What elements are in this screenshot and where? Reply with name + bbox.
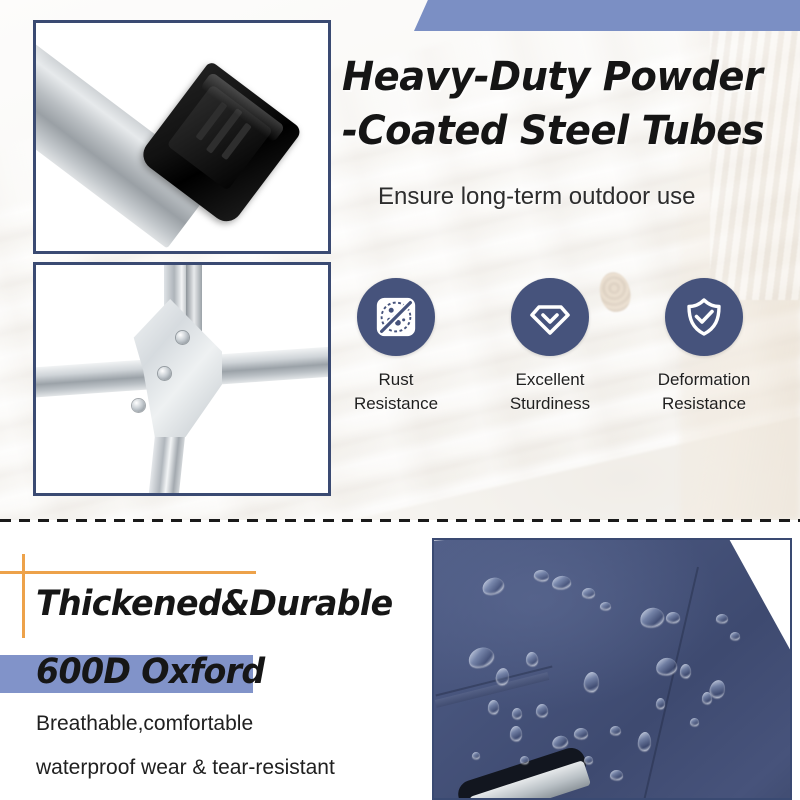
bottom-title-line-1: Thickened&Durable [36, 584, 393, 624]
feature-label: Deformation Resistance [658, 368, 751, 416]
subheadline: Ensure long-term outdoor use [378, 183, 696, 211]
diamond-check-icon [526, 293, 574, 341]
product-feature-graphic: Heavy-Duty Powder -Coated Steel Tubes En… [0, 0, 800, 800]
feature-deformation-resistance: Deformation Resistance [654, 278, 754, 416]
orange-bracket-horizontal [0, 571, 256, 574]
navy-oxford-fabric [432, 538, 792, 800]
shield-check-icon [680, 293, 728, 341]
photo-panel-bracket-joint [33, 262, 331, 496]
bottom-body-line-2: waterproof wear & tear-resistant [36, 756, 335, 780]
feature-label-line-1: Rust [379, 370, 414, 389]
feature-rust-resistance: Rust Resistance [346, 278, 446, 416]
rust-resistance-icon [373, 294, 419, 340]
orange-bracket-vertical [22, 554, 25, 638]
rivet [132, 399, 145, 412]
feature-label-line-1: Excellent [516, 370, 585, 389]
accent-band-top-right [414, 0, 800, 31]
feature-label-line-2: Resistance [662, 394, 746, 413]
photo-panel-waterproof-fabric [432, 538, 792, 800]
headline-line-1: Heavy-Duty Powder [342, 50, 774, 104]
rivet [176, 331, 189, 344]
top-section: Heavy-Duty Powder -Coated Steel Tubes En… [0, 0, 800, 520]
sturdiness-badge [511, 278, 589, 356]
headline-line-2: -Coated Steel Tubes [342, 104, 774, 158]
bottom-section: Thickened&Durable 600D Oxford Breathable… [0, 522, 800, 800]
photo-panel-tube-foot-cap [33, 20, 331, 254]
bottom-body-line-1: Breathable,comfortable [36, 712, 253, 736]
feature-excellent-sturdiness: Excellent Sturdiness [500, 278, 600, 416]
feature-label-line-1: Deformation [658, 370, 751, 389]
bottom-title-line-2: 600D Oxford [36, 652, 264, 692]
headline: Heavy-Duty Powder -Coated Steel Tubes [342, 50, 792, 158]
feature-label: Excellent Sturdiness [510, 368, 590, 416]
feature-label-line-2: Sturdiness [510, 394, 590, 413]
rivet [158, 367, 171, 380]
deformation-badge [665, 278, 743, 356]
feature-badge-row: Rust Resistance Excellent Sturdiness [340, 278, 800, 416]
feature-label-line-2: Resistance [354, 394, 438, 413]
rust-resistance-badge [357, 278, 435, 356]
feature-label: Rust Resistance [354, 368, 438, 416]
